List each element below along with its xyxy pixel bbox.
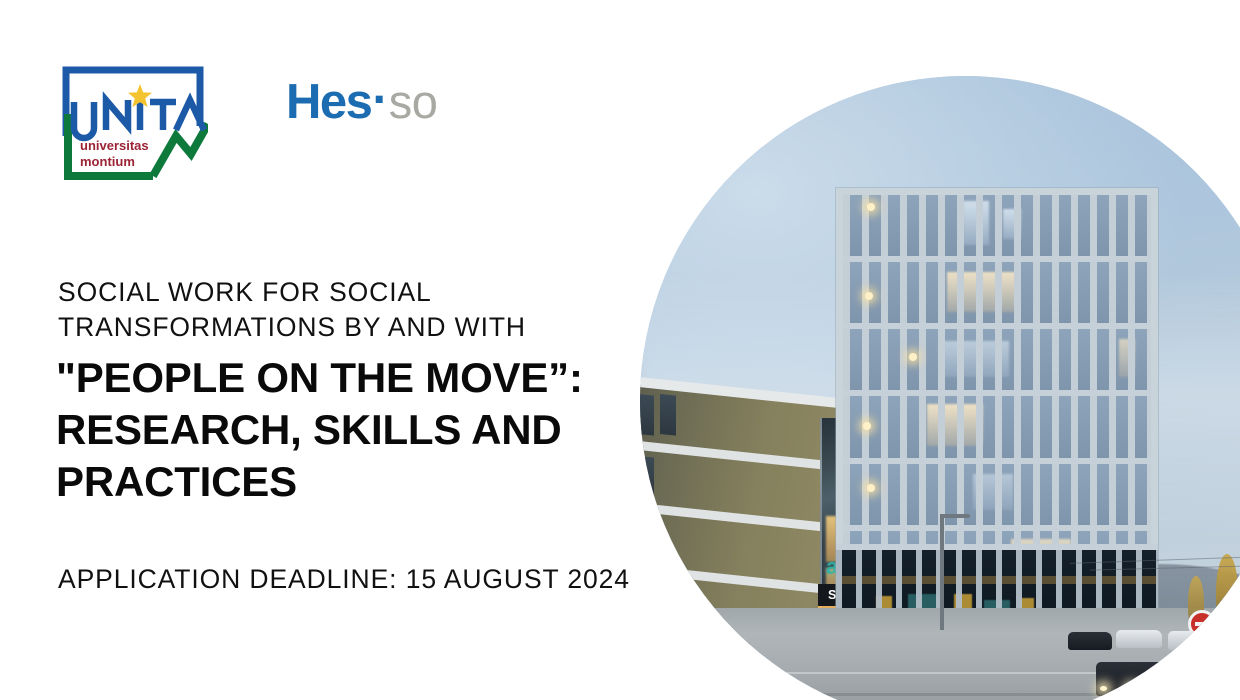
car-taillight <box>1216 695 1221 698</box>
parked-car <box>1168 631 1218 650</box>
unita-logo: universitas montium <box>58 62 208 184</box>
hesso-so-text: so <box>389 74 438 129</box>
annex-window <box>640 394 654 436</box>
moving-car <box>1096 662 1186 696</box>
hesso-separator-dot: · <box>372 72 387 128</box>
poster-headline: "PEOPLE ON THE MOVE”: RESEARCH, SKILLS A… <box>56 352 636 508</box>
moving-car <box>1210 678 1240 700</box>
car-headlight <box>1128 686 1135 691</box>
poster-canvas: universitas montium Hes · so SOCIAL WORK… <box>0 0 1240 700</box>
building-photo-circle: arc Strate J <box>640 76 1240 700</box>
annex-window <box>660 394 676 436</box>
tree-trunk <box>1226 612 1229 630</box>
building-photo: arc Strate J <box>640 76 1240 700</box>
annex-window <box>640 456 654 498</box>
lamp-post-arm <box>940 514 970 518</box>
car-headlight <box>1100 686 1107 691</box>
parked-car <box>1068 632 1112 650</box>
hesso-hes-text: Hes <box>286 74 371 130</box>
poster-subtitle: SOCIAL WORK FOR SOCIAL TRANSFORMATIONS B… <box>58 275 618 345</box>
parked-car <box>1224 632 1240 652</box>
lamp-post <box>940 514 944 630</box>
unita-tagline-line1: universitas <box>80 138 149 153</box>
unita-tagline-line2: montium <box>80 154 135 169</box>
no-entry-bar <box>1195 622 1209 626</box>
logo-row: universitas montium Hes · so <box>58 62 437 187</box>
application-deadline: APPLICATION DEADLINE: 15 AUGUST 2024 <box>58 562 678 596</box>
parked-car <box>1116 630 1162 648</box>
hesso-logo: Hes · so <box>286 74 437 130</box>
unita-logo-graphic: universitas montium <box>58 62 208 184</box>
